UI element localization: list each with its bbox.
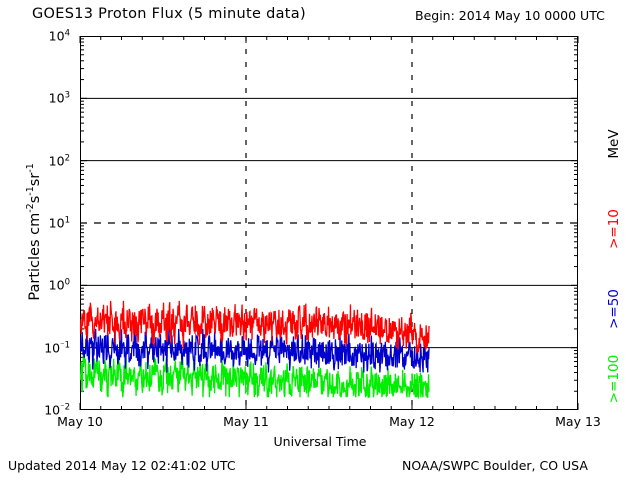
y-axis-tick-labels: 10410310210110010⁻110⁻2 <box>0 36 74 410</box>
source-credit: NOAA/SWPC Boulder, CO USA <box>402 458 588 473</box>
x-tick-label: May 12 <box>389 414 435 429</box>
legend-units: MeV <box>606 96 622 192</box>
legend-item-2: >=100 <box>606 331 622 427</box>
y-tick-label: 104 <box>49 28 70 43</box>
y-tick-label: 103 <box>49 91 70 106</box>
x-tick-label: May 10 <box>57 414 103 429</box>
y-tick-label: 100 <box>49 278 70 293</box>
y-tick-label: 102 <box>49 153 70 168</box>
y-tick-label: 10⁻1 <box>44 340 70 355</box>
updated-timestamp: Updated 2014 May 12 02:41:02 UTC <box>8 458 236 473</box>
x-tick-label: May 13 <box>555 414 601 429</box>
chart-title: GOES13 Proton Flux (5 minute data) <box>32 6 306 22</box>
plot-area <box>80 36 578 410</box>
x-axis-tick-labels: May 10May 11May 12May 13 <box>0 414 640 434</box>
x-tick-label: May 11 <box>223 414 269 429</box>
begin-time-label: Begin: 2014 May 10 0000 UTC <box>415 8 605 23</box>
plot-canvas <box>80 36 578 410</box>
y-tick-label: 101 <box>49 215 70 230</box>
x-axis-title: Universal Time <box>0 434 640 449</box>
legend: MeV>=10>=50>=100 <box>596 36 640 410</box>
